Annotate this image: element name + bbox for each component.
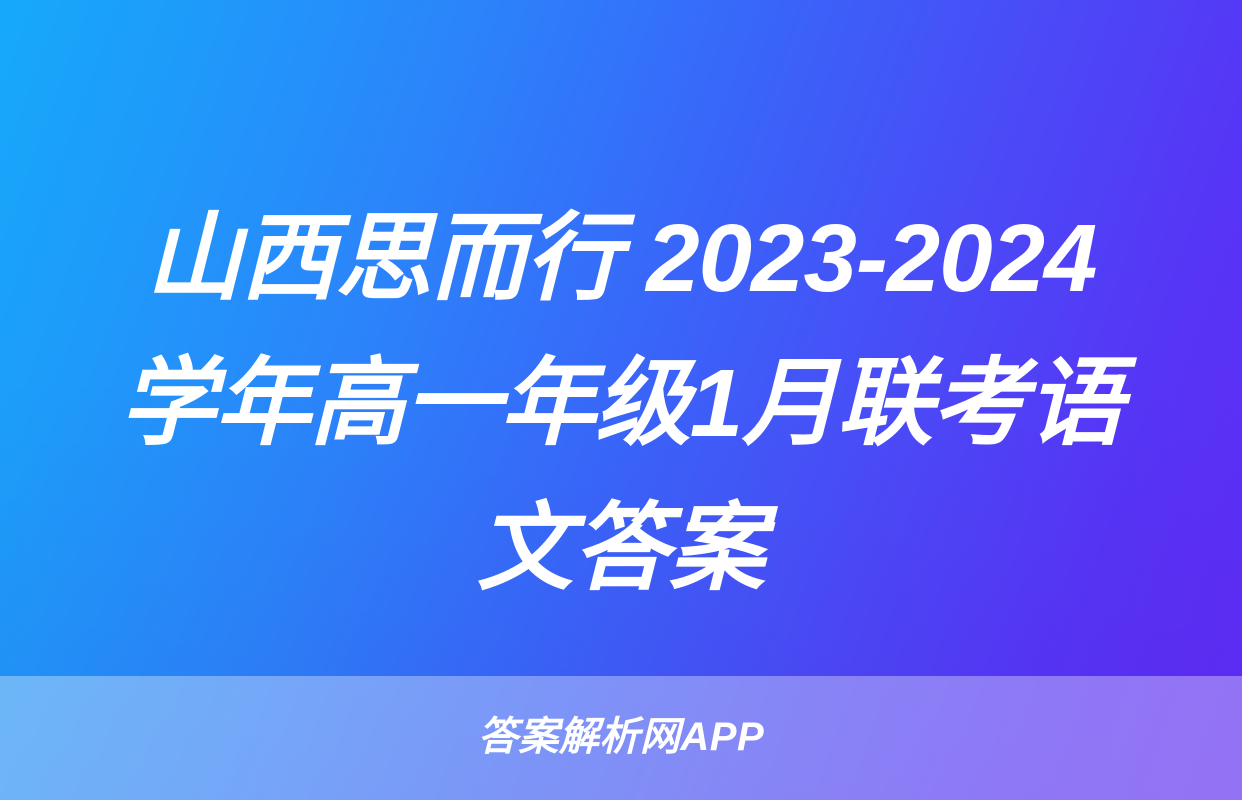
page-title-line-3: 文答案	[0, 476, 1242, 621]
app-watermark-label: 答案解析网APP	[478, 717, 764, 757]
page-title: 山西思而行 2023-2024 学年高一年级1月联考语 文答案	[0, 186, 1242, 621]
page-title-line-1: 山西思而行 2023-2024	[0, 186, 1242, 331]
page-title-line-2: 学年高一年级1月联考语	[0, 331, 1242, 476]
footer-watermark-band: 答案解析网APP	[0, 676, 1242, 800]
answer-cover-card: 山西思而行 2023-2024 学年高一年级1月联考语 文答案 答案解析网APP	[0, 0, 1242, 800]
